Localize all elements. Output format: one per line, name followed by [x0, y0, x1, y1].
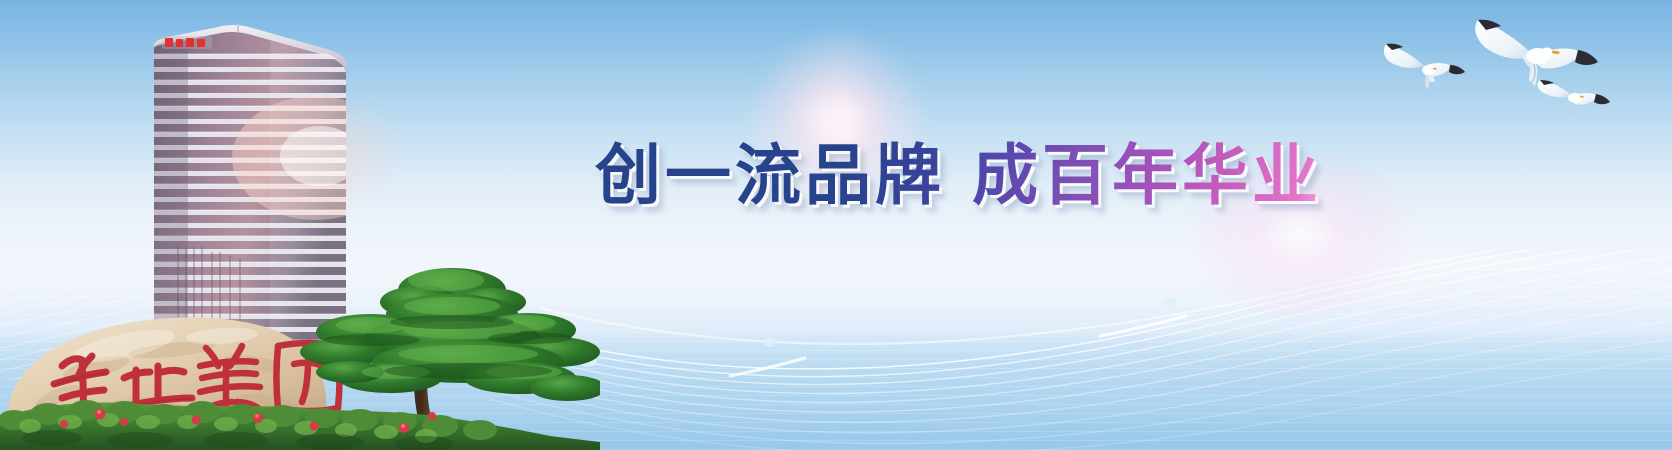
ribbon-swoosh-decoration — [480, 250, 1672, 450]
seagull-icon — [1384, 44, 1465, 89]
seagull-icon — [1538, 80, 1610, 114]
rooftop-sign-icon — [162, 36, 212, 49]
slogan-headline: 创一流品牌 成百年华业 — [595, 133, 1322, 219]
seagull-icon — [1475, 20, 1598, 86]
seagull-flock — [1372, 8, 1672, 123]
hero-banner: 创一流品牌 成百年华业 — [0, 0, 1672, 450]
slogan-text: 创一流品牌 成百年华业 — [595, 143, 1322, 209]
monument-and-garden-illustration — [0, 180, 600, 450]
